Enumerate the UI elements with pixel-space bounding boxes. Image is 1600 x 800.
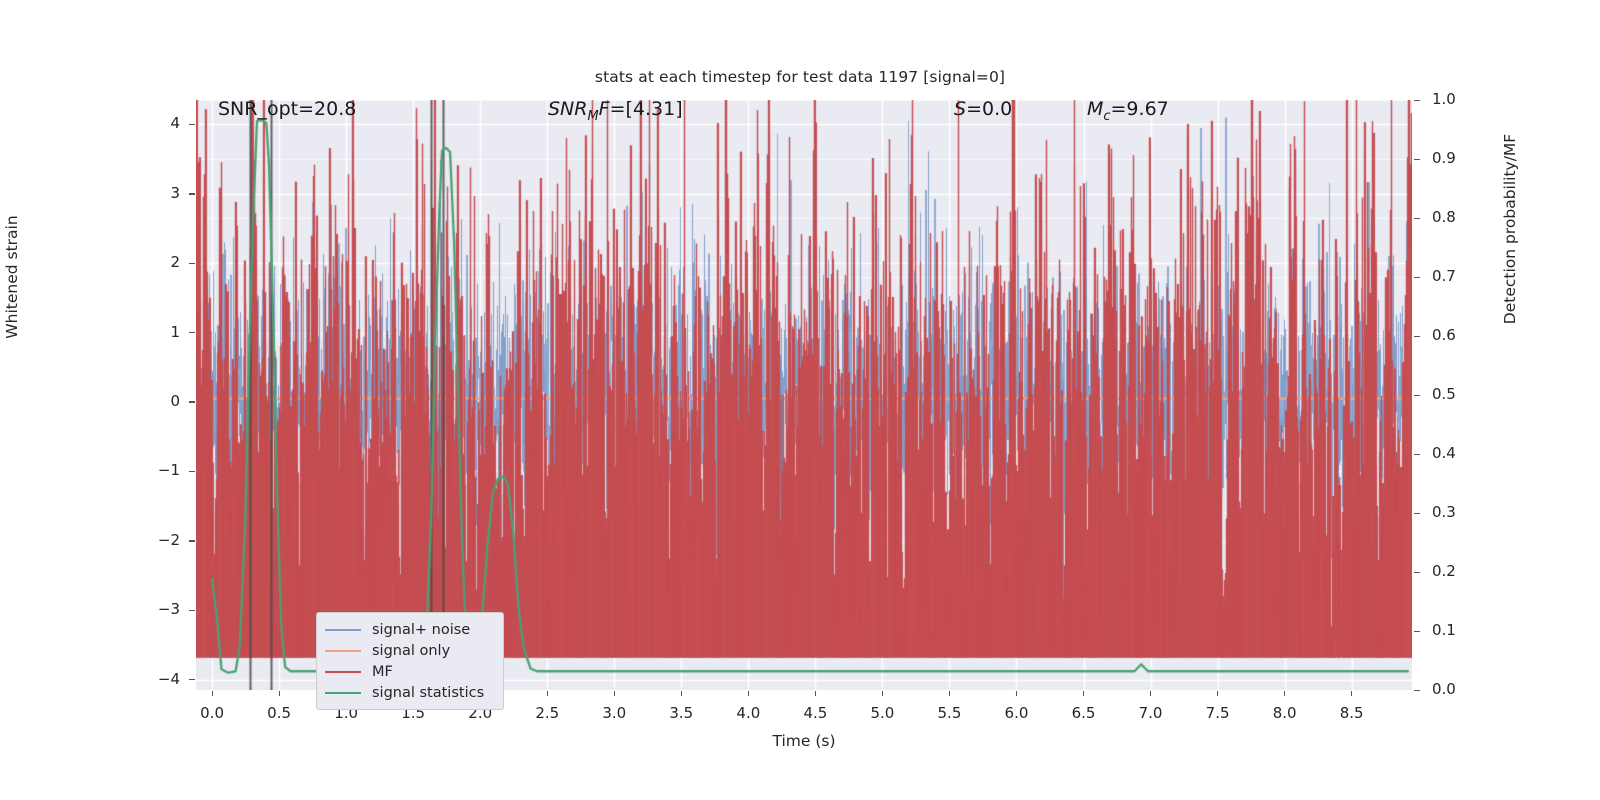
tick-mark bbox=[1414, 277, 1420, 278]
x-tick-0: 0.0 bbox=[182, 704, 242, 722]
legend-item-3[interactable]: signal statistics bbox=[325, 682, 495, 703]
tick-mark bbox=[1414, 395, 1420, 396]
y-tick-left-7: −3 bbox=[134, 600, 180, 618]
legend-label: signal only bbox=[372, 643, 450, 659]
tick-mark bbox=[212, 691, 213, 696]
tick-mark bbox=[748, 691, 749, 696]
legend-item-2[interactable]: MF bbox=[325, 661, 495, 682]
tick-mark bbox=[1217, 691, 1218, 696]
y-tick-left-4: 0 bbox=[134, 392, 180, 410]
tick-mark bbox=[681, 691, 682, 696]
y-tick-left-1: 3 bbox=[134, 184, 180, 202]
tick-mark bbox=[882, 691, 883, 696]
y-tick-left-8: −4 bbox=[134, 670, 180, 688]
legend-item-1[interactable]: signal only bbox=[325, 640, 495, 661]
y-tick-left-3: 1 bbox=[134, 323, 180, 341]
x-tick-10: 5.0 bbox=[852, 704, 912, 722]
legend-box: signal+ noisesignal onlyMFsignal statist… bbox=[316, 612, 504, 710]
y-tick-right-3: 0.7 bbox=[1432, 267, 1456, 285]
tick-mark bbox=[1414, 454, 1420, 455]
y-tick-right-7: 0.3 bbox=[1432, 503, 1456, 521]
tick-mark bbox=[189, 401, 195, 402]
tick-mark bbox=[815, 691, 816, 696]
x-tick-13: 6.5 bbox=[1054, 704, 1114, 722]
tick-mark bbox=[279, 691, 280, 696]
x-tick-5: 2.5 bbox=[517, 704, 577, 722]
y-tick-left-0: 4 bbox=[134, 114, 180, 132]
tick-mark bbox=[1016, 691, 1017, 696]
plot-drawing-surface bbox=[196, 100, 1412, 690]
y-tick-right-2: 0.8 bbox=[1432, 208, 1456, 226]
x-tick-9: 4.5 bbox=[785, 704, 845, 722]
tick-mark bbox=[1414, 513, 1420, 514]
y-tick-right-9: 0.1 bbox=[1432, 621, 1456, 639]
tick-mark bbox=[1351, 691, 1352, 696]
tick-mark bbox=[189, 263, 195, 264]
x-tick-17: 8.5 bbox=[1322, 704, 1382, 722]
tick-mark bbox=[1284, 691, 1285, 696]
tick-mark bbox=[1414, 631, 1420, 632]
y-axis-label-left: Whitened strain bbox=[3, 147, 21, 407]
x-axis-label: Time (s) bbox=[196, 732, 1412, 750]
y-tick-left-6: −2 bbox=[134, 531, 180, 549]
legend-swatch-icon bbox=[325, 671, 361, 673]
page-title: stats at each timestep for test data 119… bbox=[0, 68, 1600, 86]
plot-axes bbox=[196, 100, 1412, 690]
legend-swatch-icon bbox=[325, 692, 361, 694]
y-tick-left-2: 2 bbox=[134, 253, 180, 271]
tick-mark bbox=[1414, 690, 1420, 691]
legend-swatch-icon bbox=[325, 650, 361, 652]
legend-swatch-icon bbox=[325, 629, 361, 631]
legend-label: signal statistics bbox=[372, 685, 484, 701]
tick-mark bbox=[189, 332, 195, 333]
x-tick-6: 3.0 bbox=[584, 704, 644, 722]
y-tick-right-0: 1.0 bbox=[1432, 90, 1456, 108]
tick-mark bbox=[1150, 691, 1151, 696]
tick-mark bbox=[189, 193, 195, 194]
annotation-snr-mf: SNRMF=[4.31] bbox=[548, 100, 683, 124]
tick-mark bbox=[614, 691, 615, 696]
tick-mark bbox=[949, 691, 950, 696]
tick-mark bbox=[1083, 691, 1084, 696]
x-tick-15: 7.5 bbox=[1188, 704, 1248, 722]
tick-mark bbox=[189, 679, 195, 680]
annotation-s-value: S=0.0 bbox=[954, 100, 1012, 119]
annotation-snr-opt: SNR_opt=20.8 bbox=[218, 100, 356, 119]
tick-mark bbox=[1414, 159, 1420, 160]
y-tick-right-8: 0.2 bbox=[1432, 562, 1456, 580]
annotation-chirp-mass: Mc=9.67 bbox=[1087, 100, 1169, 124]
x-tick-14: 7.0 bbox=[1121, 704, 1181, 722]
tick-mark bbox=[1414, 100, 1420, 101]
y-tick-right-4: 0.6 bbox=[1432, 326, 1456, 344]
y-tick-right-10: 0.0 bbox=[1432, 680, 1456, 698]
x-tick-11: 5.5 bbox=[919, 704, 979, 722]
x-tick-1: 0.5 bbox=[249, 704, 309, 722]
tick-mark bbox=[189, 610, 195, 611]
tick-mark bbox=[189, 540, 195, 541]
y-tick-left-5: −1 bbox=[134, 461, 180, 479]
tick-mark bbox=[189, 471, 195, 472]
x-tick-12: 6.0 bbox=[986, 704, 1046, 722]
tick-mark bbox=[1414, 336, 1420, 337]
tick-mark bbox=[1414, 572, 1420, 573]
legend-label: signal+ noise bbox=[372, 622, 470, 638]
legend-item-0[interactable]: signal+ noise bbox=[325, 619, 495, 640]
x-tick-16: 8.0 bbox=[1255, 704, 1315, 722]
tick-mark bbox=[1414, 218, 1420, 219]
x-tick-7: 3.5 bbox=[651, 704, 711, 722]
y-axis-label-right: Detection probability/MF bbox=[1501, 49, 1519, 409]
tick-mark bbox=[189, 124, 195, 125]
y-tick-right-1: 0.9 bbox=[1432, 149, 1456, 167]
figure-canvas: stats at each timestep for test data 119… bbox=[0, 0, 1600, 800]
y-tick-right-6: 0.4 bbox=[1432, 444, 1456, 462]
legend-label: MF bbox=[372, 664, 393, 680]
y-tick-right-5: 0.5 bbox=[1432, 385, 1456, 403]
x-tick-8: 4.0 bbox=[718, 704, 778, 722]
tick-mark bbox=[547, 691, 548, 696]
